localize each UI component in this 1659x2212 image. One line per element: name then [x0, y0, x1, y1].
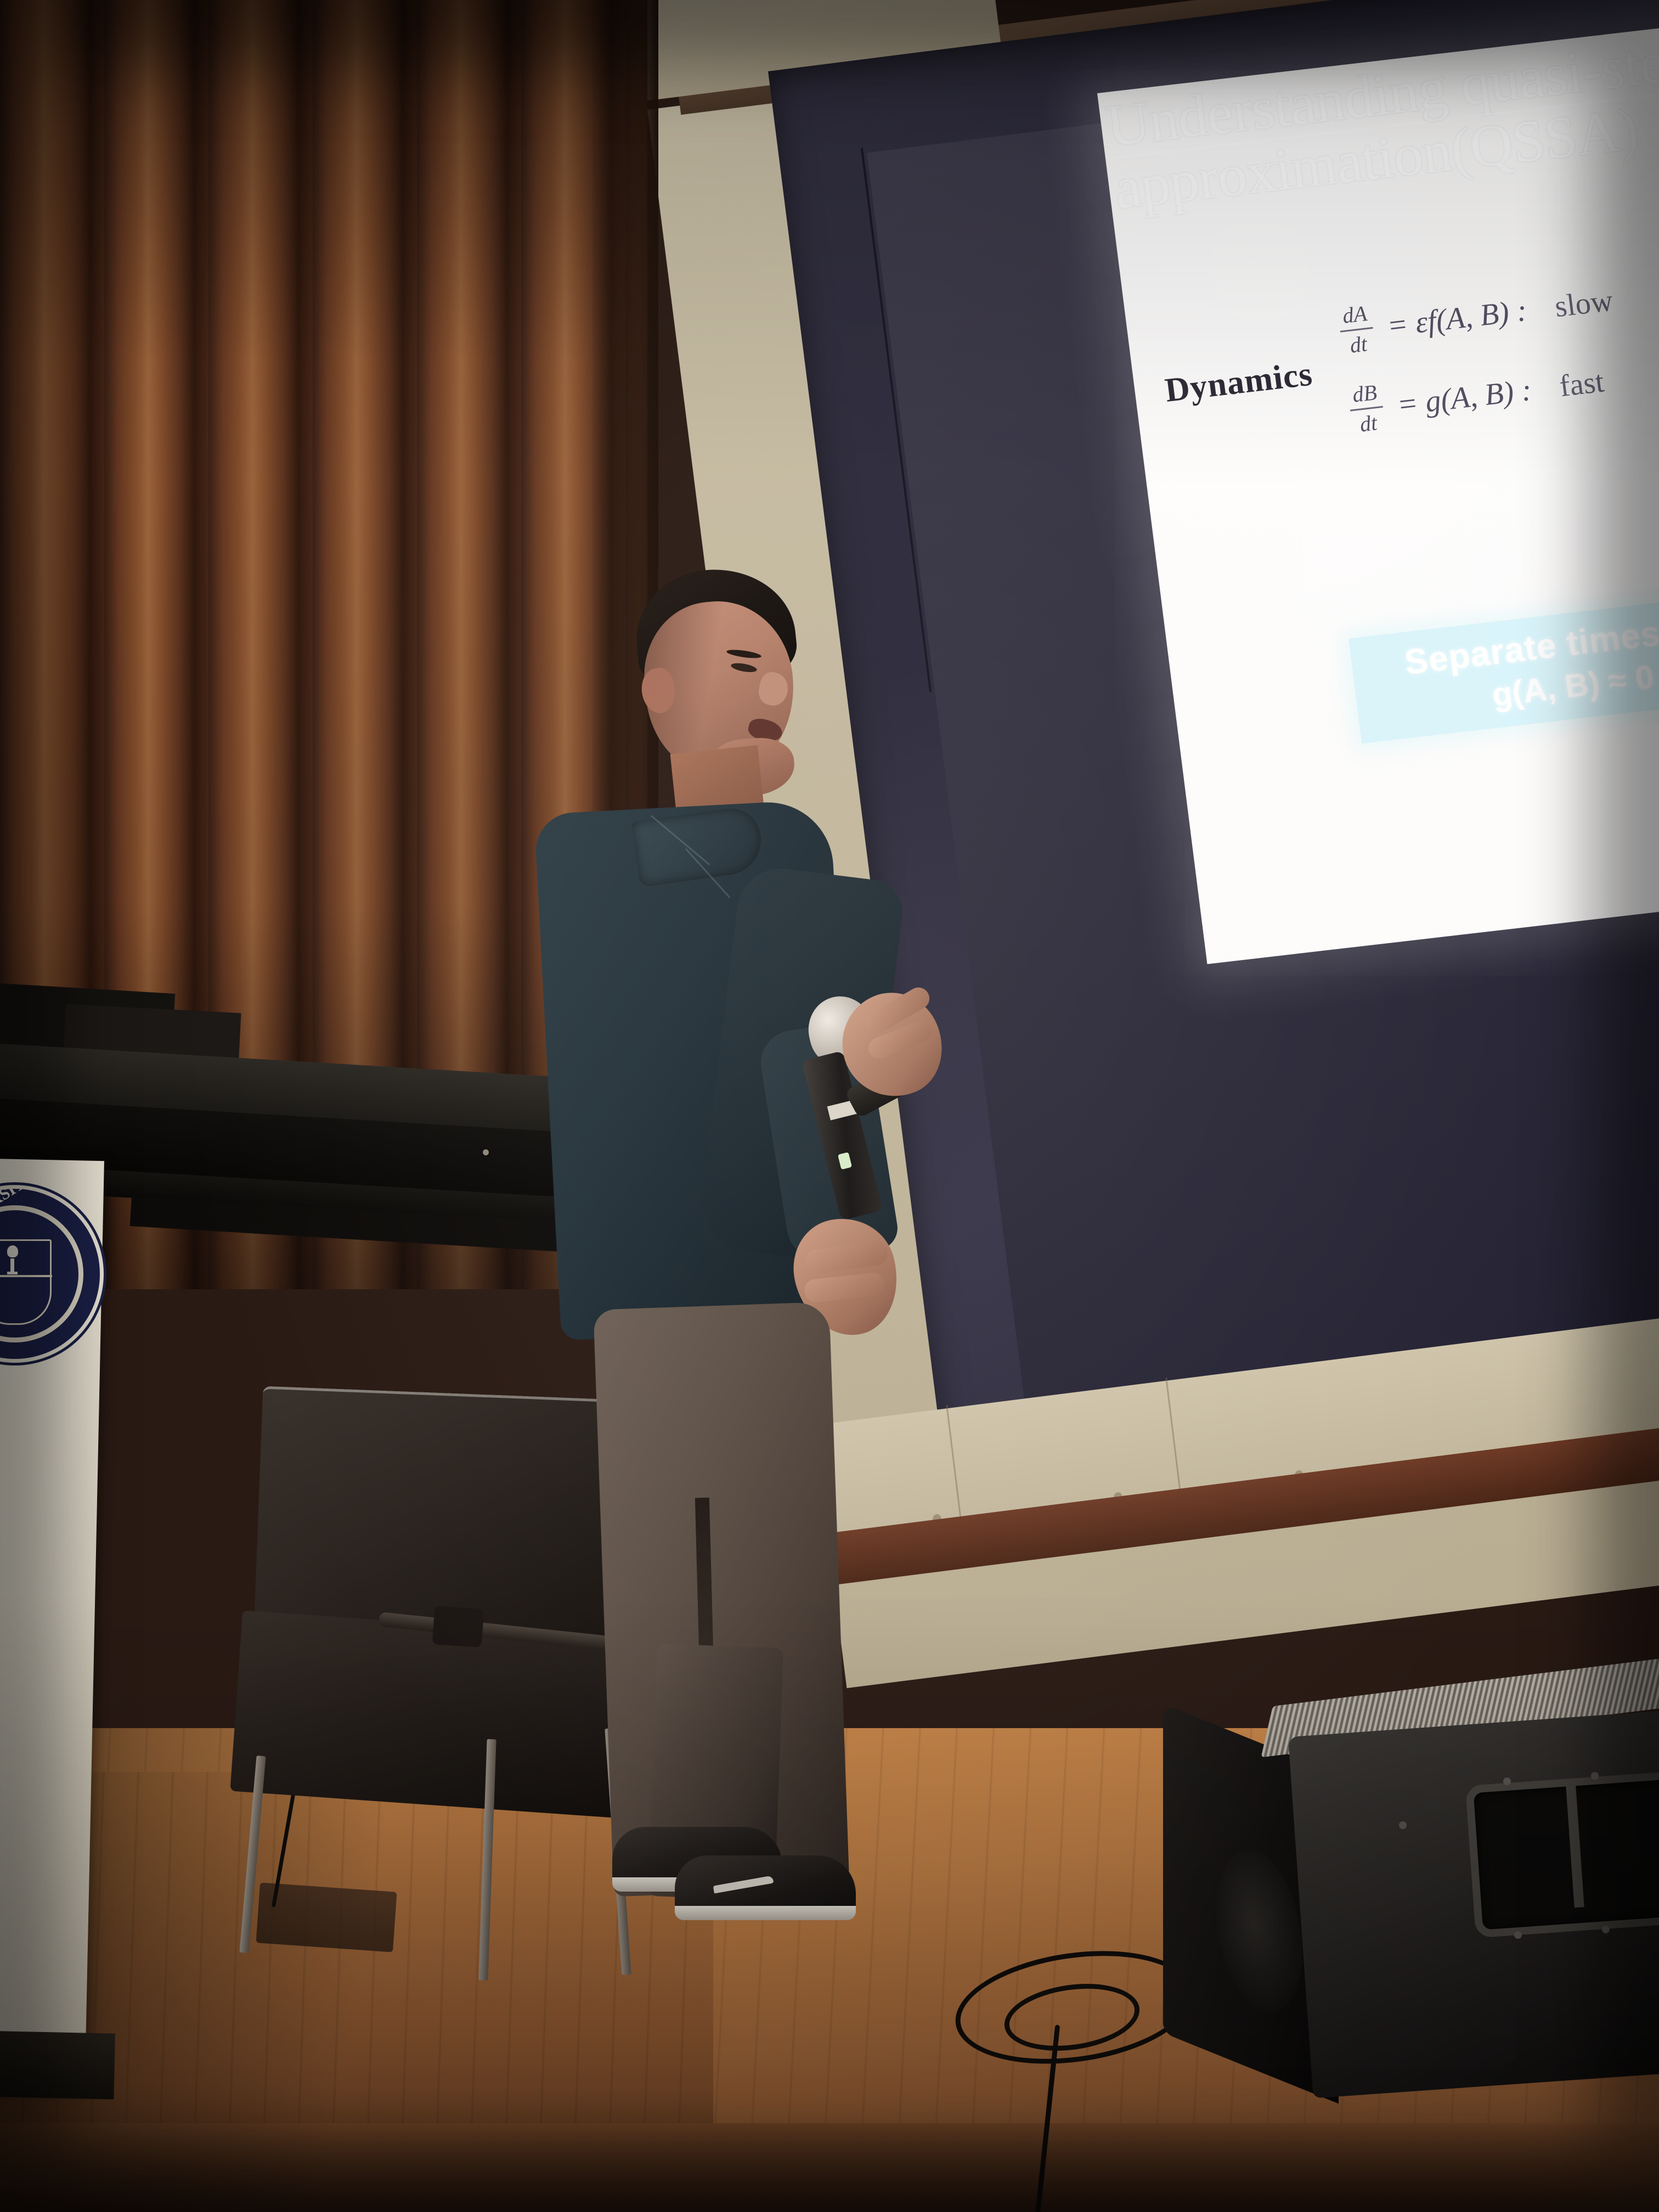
monitor-screw	[1503, 1778, 1511, 1785]
torch-flame	[7, 1245, 18, 1257]
lectern-base	[0, 2030, 115, 2100]
slide-body: Dynamics dA dt = εf(A, B) : slow dB	[1157, 240, 1659, 458]
dynamics-label: Dynamics	[1163, 354, 1314, 410]
fraction-numerator: dA	[1337, 301, 1373, 328]
equation-rhs: = εf(A, B) :	[1385, 292, 1529, 343]
torch-stem	[10, 1259, 14, 1272]
fraction-dA-dt: dA dt	[1337, 301, 1376, 358]
desk-screw	[483, 1149, 489, 1155]
monitor-screw	[1514, 1931, 1522, 1939]
monitor-screw	[1602, 1926, 1610, 1933]
torch-base	[7, 1272, 18, 1274]
fraction-numerator: dB	[1347, 380, 1383, 407]
equation-group: dA dt = εf(A, B) : slow dB dt	[1336, 272, 1626, 437]
lecture-hall-photo: Understanding quasi-stea approximation(Q…	[0, 0, 1659, 2212]
stage-monitor-speaker	[1163, 1706, 1659, 2090]
monitor-handle-cutout	[1465, 1769, 1659, 1938]
university-seal: VERSITY	[0, 1185, 104, 1363]
seal-text-letters: VERSITY	[0, 1185, 38, 1223]
fraction-denominator: dt	[1344, 332, 1373, 358]
chair-adjust-knob	[432, 1606, 484, 1647]
highlight-callout-box: Separate timescale g(A, B) ≈ 0	[1348, 589, 1659, 743]
monitor-screw	[1591, 1772, 1599, 1780]
equation-slow: dA dt = εf(A, B) : slow	[1337, 274, 1616, 358]
monitor-screw	[1399, 1821, 1407, 1829]
fraction-dB-dt: dB dt	[1347, 380, 1386, 437]
speaker-person	[538, 565, 889, 1970]
fraction-denominator: dt	[1354, 411, 1383, 437]
shoe-sole	[675, 1906, 856, 1920]
equation-fast: dB dt = g(A, B) : fast	[1347, 353, 1626, 437]
seal-shield	[0, 1239, 52, 1325]
torch-icon	[7, 1245, 17, 1272]
equation-rhs: = g(A, B) :	[1395, 372, 1534, 422]
equation-tag: slow	[1553, 283, 1615, 324]
equation-tag: fast	[1558, 364, 1606, 404]
